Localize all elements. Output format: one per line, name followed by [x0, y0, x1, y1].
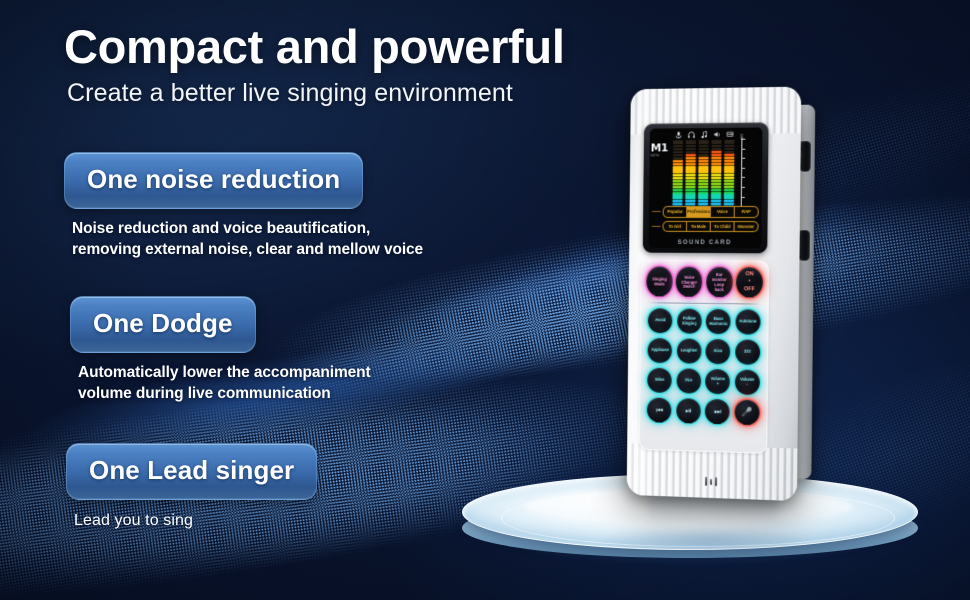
- button-label-line: ON: [745, 272, 753, 279]
- meter-bar: [673, 140, 684, 208]
- meter-column-4: [710, 131, 723, 208]
- meter-segment: [673, 157, 683, 159]
- meter-segment: [673, 186, 683, 188]
- meter-segment: [712, 148, 722, 150]
- button-label-line: Bass: [714, 317, 724, 322]
- meter-segment: [724, 203, 734, 205]
- meter-segment: [673, 143, 683, 145]
- follow-singing-button[interactable]: FollowSinging: [677, 309, 702, 334]
- meter-segment: [673, 154, 683, 156]
- meter-segment: [685, 189, 695, 191]
- feature-pill-3[interactable]: One Lead singer: [66, 443, 317, 500]
- page-subtitle: Create a better live singing environment: [67, 79, 565, 108]
- previous-track-button[interactable]: ⏮: [647, 397, 672, 422]
- wine-glass-button[interactable]: Wine: [647, 368, 672, 393]
- button-label-line: Harmonic: [709, 321, 727, 326]
- button-label-line: Kiss: [714, 349, 722, 354]
- meter-segment: [724, 154, 734, 156]
- preset-row-2-lead: [652, 226, 661, 227]
- meter-segment: [673, 183, 683, 185]
- wave-mesh-crest: [248, 90, 970, 469]
- guitar-icon: [726, 131, 733, 138]
- feature-title-2: One Dodge: [93, 308, 233, 339]
- feature-pill-2[interactable]: One Dodge: [70, 296, 256, 353]
- mic-mute-button[interactable]: 🎤: [734, 400, 759, 426]
- preset-button-voice[interactable]: Voice: [711, 207, 735, 216]
- laughter-button[interactable]: Laughter: [677, 338, 702, 363]
- meter-segment: [711, 194, 721, 196]
- preset-row-1-lead: [652, 211, 661, 212]
- display-mode-label: M1: [651, 142, 668, 153]
- avoid-button[interactable]: Avoid: [648, 308, 673, 333]
- meter-segment: [711, 192, 721, 194]
- meter-segment: [686, 157, 696, 159]
- meter-segment: [699, 160, 709, 162]
- meter-segment: [673, 146, 683, 148]
- feature-description-2: Automatically lower the accompaniment vo…: [78, 363, 371, 405]
- button-label-line: Volume: [711, 377, 725, 382]
- meter-segment: [698, 177, 708, 179]
- meter-segment: [686, 160, 696, 162]
- speaker-icon: [713, 131, 720, 138]
- button-label-line: 222: [744, 350, 751, 355]
- meter-segment: [699, 163, 709, 165]
- scale-tick: [741, 197, 745, 198]
- button-label-line: -: [746, 382, 747, 387]
- meter-segment: [699, 140, 709, 142]
- brand-label: SOUND CARD: [649, 240, 762, 246]
- product-banner: Compact and powerful Create a better liv…: [0, 0, 970, 600]
- scale-tick: [741, 148, 745, 149]
- meter-segment: [673, 203, 683, 205]
- usb-port[interactable]: [702, 476, 720, 488]
- meter-segment: [686, 154, 696, 156]
- meter-segment: [699, 148, 709, 150]
- meter-segment: [686, 168, 696, 170]
- music-note-icon: [700, 131, 707, 138]
- meter-segment: [673, 174, 683, 176]
- meter-segment: [724, 180, 734, 182]
- button-label-line: Laughter: [681, 348, 698, 353]
- feature-description-1: Noise reduction and voice beautification…: [72, 219, 423, 261]
- meter-segment: [698, 166, 708, 168]
- meter-segment: [724, 189, 734, 191]
- meter-segment: [712, 139, 722, 141]
- preset-button-to-male[interactable]: To Male: [687, 222, 711, 231]
- meter-segment: [711, 160, 721, 162]
- voice-changer-switch-button[interactable]: VoiceChangerSwitch: [676, 267, 703, 297]
- meter-segment: [698, 197, 708, 199]
- meter-segment: [711, 189, 721, 191]
- button-label-line: OFF: [744, 286, 755, 293]
- meter-segment: [686, 166, 696, 168]
- preset-button-professional[interactable]: Professional: [687, 207, 711, 216]
- meter-segment: [673, 189, 683, 191]
- meter-segment: [698, 200, 708, 202]
- device-body: M1 MEM 1000 PopularProfessionalVoiceRAP …: [627, 87, 802, 501]
- port-pin: [705, 477, 707, 486]
- scale-max-label: 100: [739, 134, 743, 141]
- scale-tick: [741, 206, 745, 207]
- meter-bar: [724, 139, 735, 208]
- headline-block: Compact and powerful Create a better liv…: [64, 22, 565, 108]
- volume-up-button[interactable]: Volume+: [705, 369, 730, 395]
- meter-segment: [724, 183, 734, 185]
- meter-segment: [673, 140, 683, 142]
- mic-icon: [675, 131, 682, 138]
- next-track-button[interactable]: ⏭: [705, 399, 730, 425]
- meter-segment: [673, 163, 683, 165]
- ear-monitor-loop-back-button[interactable]: EarmonitorLoopback: [706, 267, 733, 297]
- meter-segment: [699, 145, 709, 147]
- meter-segment: [699, 151, 709, 153]
- button-label-line: Autotune: [739, 319, 757, 324]
- meter-segment: [711, 154, 721, 156]
- meter-segment: [673, 148, 683, 150]
- preset-button-monster[interactable]: Monster: [734, 222, 757, 231]
- scale-tick: [741, 168, 745, 169]
- meter-segment: [724, 151, 734, 153]
- display-mode-sublabel: MEM: [651, 154, 668, 158]
- mic-mute-icon: 🎤: [741, 408, 752, 417]
- meter-segment: [698, 174, 708, 176]
- meter-segment: [686, 145, 696, 147]
- feature-title-1: One noise reduction: [87, 164, 340, 195]
- meter-segment: [711, 165, 721, 167]
- meter-bar: [711, 139, 722, 208]
- feature-title-3: One Lead singer: [89, 455, 294, 486]
- meter-segment: [711, 177, 721, 179]
- meter-segment: [724, 157, 734, 159]
- led-display[interactable]: M1 MEM 1000 PopularProfessionalVoiceRAP …: [649, 127, 763, 248]
- meter-scale: 1000: [738, 135, 751, 213]
- preset-button-to-girl[interactable]: To Girl: [663, 222, 687, 231]
- meter-segment: [685, 186, 695, 188]
- meter-segment: [686, 148, 696, 150]
- preset-group-2: To GirlTo MaleTo ChildMonster: [662, 221, 758, 233]
- button-label-line: Switch: [683, 284, 696, 289]
- meter-segment: [685, 197, 695, 199]
- meter-segment: [673, 169, 683, 171]
- play-pause-button[interactable]: ⏯: [676, 398, 701, 424]
- meter-segment: [686, 171, 696, 173]
- meter-segment: [724, 200, 734, 202]
- meter-segment: [686, 163, 696, 165]
- meter-segment: [724, 186, 734, 188]
- control-panel: SingingModeVoiceChangerSwitchEarmonitorL…: [639, 260, 769, 454]
- meter-segment: [724, 165, 734, 167]
- meter-segment: [686, 140, 696, 142]
- scale-min-label: 0: [743, 209, 745, 213]
- feature-pill-1[interactable]: One noise reduction: [64, 152, 363, 209]
- meter-segment: [673, 192, 683, 194]
- meter-segment: [698, 203, 708, 205]
- button-label-line: Ear: [716, 272, 722, 277]
- meter-bar: [698, 140, 709, 209]
- bass-harmonic-button[interactable]: BassHarmonic: [706, 309, 731, 334]
- meter-segment: [673, 194, 683, 196]
- meter-segment: [673, 160, 683, 162]
- preset-button-rap[interactable]: RAP: [735, 207, 758, 216]
- preset-row-2: To GirlTo MaleTo ChildMonster: [652, 221, 759, 233]
- fire-button[interactable]: Fire: [676, 368, 701, 393]
- button-label-line: back: [715, 287, 724, 292]
- autotune-button[interactable]: Autotune: [735, 309, 760, 334]
- button-label-line: Fire: [685, 378, 692, 383]
- meter-segment: [711, 197, 721, 199]
- meter-column-3: [697, 131, 710, 208]
- page-title: Compact and powerful: [64, 22, 565, 73]
- button-label-line: Singing: [682, 321, 696, 326]
- feature-description-3: Lead you to sing: [74, 510, 317, 531]
- display-bezel: M1 MEM 1000 PopularProfessionalVoiceRAP …: [643, 122, 769, 253]
- singing-mode-button[interactable]: SingingMode: [646, 267, 673, 297]
- meter-segment: [685, 194, 695, 196]
- meter-segment: [724, 168, 734, 170]
- volume-down-button[interactable]: Volume-: [735, 369, 760, 395]
- preset-row-1: PopularProfessionalVoiceRAP: [652, 206, 759, 217]
- meter-segment: [699, 142, 709, 144]
- scale-line: [741, 138, 743, 208]
- meter-segment: [724, 174, 734, 176]
- button-label-line: Volume: [740, 377, 754, 382]
- six-six-six-button[interactable]: 222: [735, 339, 760, 365]
- meter-segment: [724, 142, 734, 144]
- button-label-line: Applause: [651, 348, 669, 353]
- meter-segment: [724, 160, 734, 162]
- meter-segment: [698, 186, 708, 188]
- display-mode-label-group: M1 MEM: [651, 142, 668, 158]
- mode-button-row: SingingModeVoiceChangerSwitchEarmonitorL…: [646, 267, 763, 298]
- button-label-line: Avoid: [655, 318, 666, 323]
- feature-one-noise-reduction: One noise reduction Noise reduction and …: [64, 152, 423, 261]
- meter-segment: [698, 192, 708, 194]
- meter-segment: [724, 171, 734, 173]
- meter-segment: [711, 174, 721, 176]
- button-label-line: Wine: [655, 378, 664, 383]
- button-label-line: Loop: [714, 282, 724, 287]
- meter-segment: [673, 180, 683, 182]
- meter-segment: [673, 151, 683, 153]
- button-label-line: +: [717, 382, 719, 387]
- meter-segment: [724, 139, 734, 141]
- mic-volume-port[interactable]: [798, 230, 809, 260]
- meter-segment: [711, 168, 721, 170]
- meter-segment: [724, 177, 734, 179]
- meter-segment: [711, 157, 721, 159]
- meter-segment: [724, 194, 734, 196]
- meter-segment: [711, 163, 721, 165]
- preset-button-to-child[interactable]: To Child: [711, 222, 735, 231]
- preset-button-popular[interactable]: Popular: [664, 207, 688, 216]
- preset-rows: PopularProfessionalVoiceRAP To GirlTo Ma…: [652, 206, 759, 235]
- preset-group-1: PopularProfessionalVoiceRAP: [663, 206, 759, 217]
- mic-effect-port[interactable]: [799, 141, 810, 171]
- button-label-line: monitor: [712, 277, 727, 282]
- meter-segment: [711, 183, 721, 185]
- pedestal-contact-shadow: [603, 527, 813, 553]
- meter-segment: [711, 186, 721, 188]
- meter-segment: [711, 171, 721, 173]
- meter-segment: [686, 174, 696, 176]
- panel-divider: [648, 302, 761, 304]
- meter-segment: [686, 151, 696, 153]
- meter-segment: [711, 203, 721, 205]
- meter-segment: [724, 206, 734, 208]
- meter-segment: [724, 162, 734, 164]
- play-pause-icon: ⏯: [685, 407, 691, 415]
- scale-tick: [741, 139, 745, 140]
- meter-segment: [698, 180, 708, 182]
- meter-column-5: [723, 131, 736, 208]
- meter-segment: [685, 200, 695, 202]
- meter-segment: [724, 148, 734, 150]
- applause-button[interactable]: Applause: [648, 338, 673, 363]
- button-label-line: •: [748, 279, 750, 286]
- headphone-icon: [687, 131, 694, 138]
- meter-segment: [724, 197, 734, 199]
- meter-segment: [699, 154, 709, 156]
- meter-segment: [724, 145, 734, 147]
- port-pin: [715, 477, 717, 486]
- meter-column-2: [684, 131, 697, 208]
- meter-segment: [712, 142, 722, 144]
- meter-segment: [686, 143, 696, 145]
- meter-segment: [698, 168, 708, 170]
- meter-segment: [673, 177, 683, 179]
- meter-column-1: [672, 131, 685, 208]
- sound-card-device: Mic Effect Mic Volume M1 MEM 1000: [627, 87, 802, 501]
- meter-segment: [698, 183, 708, 185]
- meter-segment: [711, 200, 721, 202]
- meter-segment: [712, 145, 722, 147]
- meter-segment: [673, 171, 683, 173]
- port-pin: [710, 478, 712, 484]
- scale-tick: [741, 177, 745, 178]
- meter-segment: [699, 157, 709, 159]
- power-on-off-button[interactable]: ON•OFF: [736, 267, 763, 297]
- meter-segment: [698, 189, 708, 191]
- meter-segment: [724, 191, 734, 193]
- meter-segment: [685, 203, 695, 205]
- feature-one-dodge: One Dodge Automatically lower the accomp…: [70, 296, 371, 405]
- meter-segment: [698, 171, 708, 173]
- meter-segment: [711, 180, 721, 182]
- feature-one-lead-singer: One Lead singer Lead you to sing: [66, 443, 317, 531]
- meter-segment: [673, 197, 683, 199]
- meter-segment: [686, 177, 696, 179]
- kiss-button[interactable]: Kiss: [706, 339, 731, 364]
- meter-segment: [673, 200, 683, 202]
- effect-button-grid: AvoidFollowSingingBassHarmonicAutotuneAp…: [645, 308, 763, 425]
- scale-tick: [741, 158, 745, 159]
- meter-segment: [698, 194, 708, 196]
- meter-segment: [686, 180, 696, 182]
- next-track-icon: ⏭: [714, 408, 721, 416]
- button-label-line: Mode: [654, 281, 664, 286]
- meter-segment: [685, 192, 695, 194]
- led-meter-group: 1000: [653, 131, 759, 213]
- meter-segment: [673, 166, 683, 168]
- scale-tick: [741, 187, 745, 188]
- previous-track-icon: ⏮: [656, 406, 663, 414]
- meter-bar: [685, 140, 696, 208]
- device-reflection: [648, 496, 778, 526]
- meter-segment: [711, 151, 721, 153]
- meter-segment: [686, 183, 696, 185]
